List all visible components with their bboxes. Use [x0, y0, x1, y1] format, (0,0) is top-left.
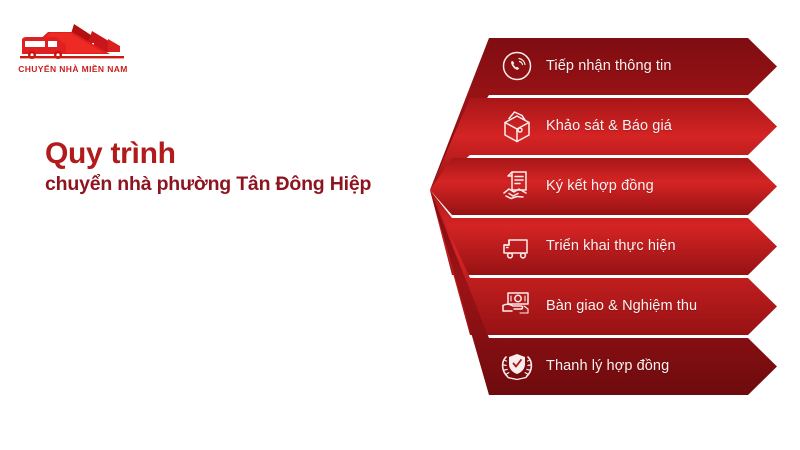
infographic-canvas: CHUYỂN NHÀ MIỀN NAM Quy trình chuyển nhà… [0, 0, 800, 450]
process-step-6-label: Thanh lý hợp đồng [546, 358, 669, 374]
process-fan [0, 0, 800, 450]
process-step-2-label: Khảo sát & Báo giá [546, 118, 672, 134]
process-step-4-label: Triển khai thực hiện [546, 238, 676, 254]
process-step-5-label: Bàn giao & Nghiệm thu [546, 298, 697, 314]
process-step-1-label: Tiếp nhận thông tin [546, 58, 672, 74]
process-step-3-label: Ký kết hợp đồng [546, 178, 654, 194]
